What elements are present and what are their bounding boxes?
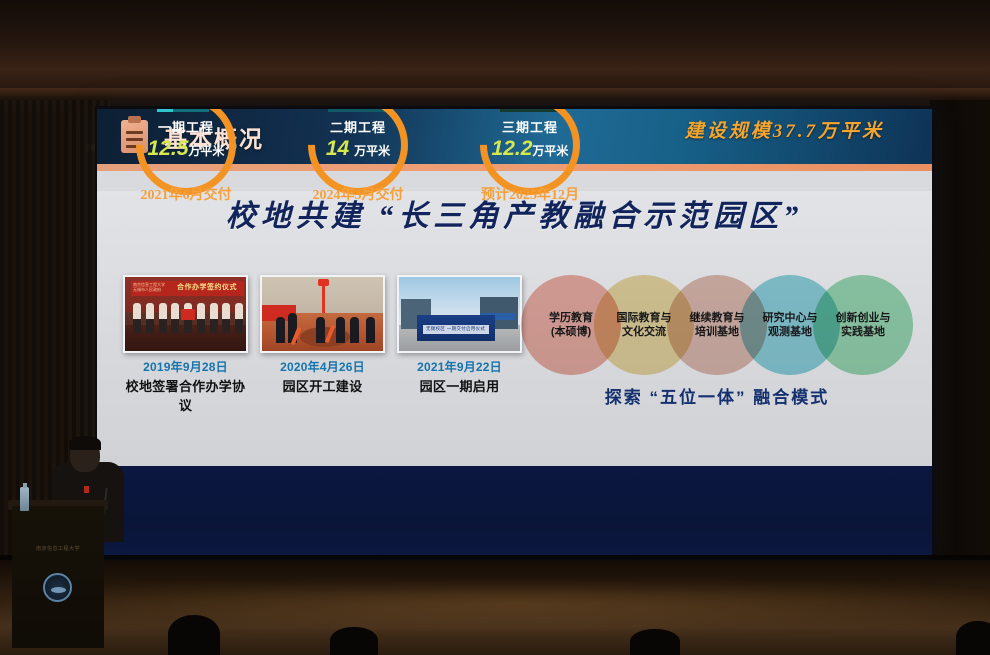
photo-description: 园区一期启用 — [397, 376, 522, 395]
presentation-slide: 基本概况 校地共建 “长三角产教融合示范园区” 南京信息工程大学无锡市人民政府 … — [97, 109, 932, 568]
five-in-one-caption: 探索 “五位一体” 融合模式 — [521, 383, 913, 408]
photo-date: 2020年4月26日 — [260, 358, 385, 375]
auditorium-scene: 基本概况 校地共建 “长三角产教融合示范园区” 南京信息工程大学无锡市人民政府 … — [0, 0, 990, 655]
presenter-hair — [69, 436, 101, 450]
photo-card: 南京信息工程大学无锡市人民政府 合作办学签约仪式 2019年9月28日 校地 — [123, 275, 248, 414]
phase-unit: 万平米 — [354, 144, 390, 158]
photo-date: 2021年9月22日 — [397, 358, 522, 375]
construction-phases: 一期工程 12.5万平米 2021年6月交付 — [97, 109, 932, 207]
phase-number: 12.5 — [148, 137, 189, 160]
podium-logo — [43, 573, 72, 602]
photo-banner-main: 合作办学签约仪式 — [177, 282, 237, 292]
phase-name: 二期工程 — [303, 117, 413, 136]
phase-delivery: 预计2025年12月 — [465, 184, 595, 204]
phase-number: 14 — [326, 137, 349, 160]
phase-delivery: 2024年3月交付 — [293, 184, 423, 204]
summary-stats: 总用地规模928亩 建设规模37.7万平米 — [685, 109, 884, 157]
phase-number: 12.2 — [492, 137, 533, 160]
phase-item: 一期工程 12.5万平米 2021年6月交付 — [127, 109, 245, 207]
audience-head — [168, 615, 220, 655]
photo-banner-sub: 南京信息工程大学无锡市人民政府 — [133, 282, 165, 292]
summary-built-area: 建设规模37.7万平米 — [685, 116, 884, 143]
photo-card: 2020年4月26日 园区开工建设 — [260, 275, 385, 414]
slide-footer-panel — [97, 466, 932, 568]
phase-unit: 万平米 — [188, 144, 224, 158]
audience-head — [330, 627, 378, 655]
audience-head — [630, 629, 680, 655]
presenter-badge — [84, 486, 89, 493]
photo-description: 园区开工建设 — [260, 376, 385, 395]
phase-item: 三期工程 12.2万平米 预计2025年12月 — [471, 109, 589, 207]
phase-name: 一期工程 — [131, 117, 241, 136]
phase-item: 二期工程 14万平米 2024年3月交付 — [299, 109, 417, 207]
phase-delivery: 2021年6月交付 — [121, 184, 251, 204]
floor-reflection — [0, 586, 990, 632]
photo-timeline: 南京信息工程大学无锡市人民政府 合作办学签约仪式 2019年9月28日 校地 — [97, 275, 517, 414]
audience-head — [956, 621, 990, 655]
photo-signing-ceremony: 南京信息工程大学无锡市人民政府 合作办学签约仪式 — [123, 275, 248, 353]
circle-item: 创新创业与实践基地 — [813, 275, 913, 375]
right-wall-panel — [930, 100, 990, 570]
five-in-one-model: 学历教育(本硕博) 国际教育与文化交流 继续教育与培训基地 研究中心与观测基地 — [517, 275, 932, 408]
photo-date: 2019年9月28日 — [123, 358, 248, 375]
phase-unit: 万平米 — [532, 144, 568, 158]
ceiling-strip — [0, 88, 990, 98]
photo-banner-text: 无锡校区 一期交付启用仪式 — [426, 326, 485, 332]
phase-name: 三期工程 — [475, 117, 585, 136]
photo-description: 校地签署合作办学协议 — [123, 376, 248, 414]
photo-groundbreaking — [260, 275, 385, 353]
photo-card: 无锡校区 一期交付启用仪式 2021年9月22日 园区一期启用 — [397, 275, 522, 414]
slide-body: 校地共建 “长三角产教融合示范园区” 南京信息工程大学无锡市人民政府 合作办学签… — [97, 191, 932, 486]
podium-label: 南京信息工程大学 — [22, 545, 94, 552]
water-bottle — [20, 487, 29, 511]
photo-campus-opening: 无锡校区 一期交付启用仪式 — [397, 275, 522, 353]
